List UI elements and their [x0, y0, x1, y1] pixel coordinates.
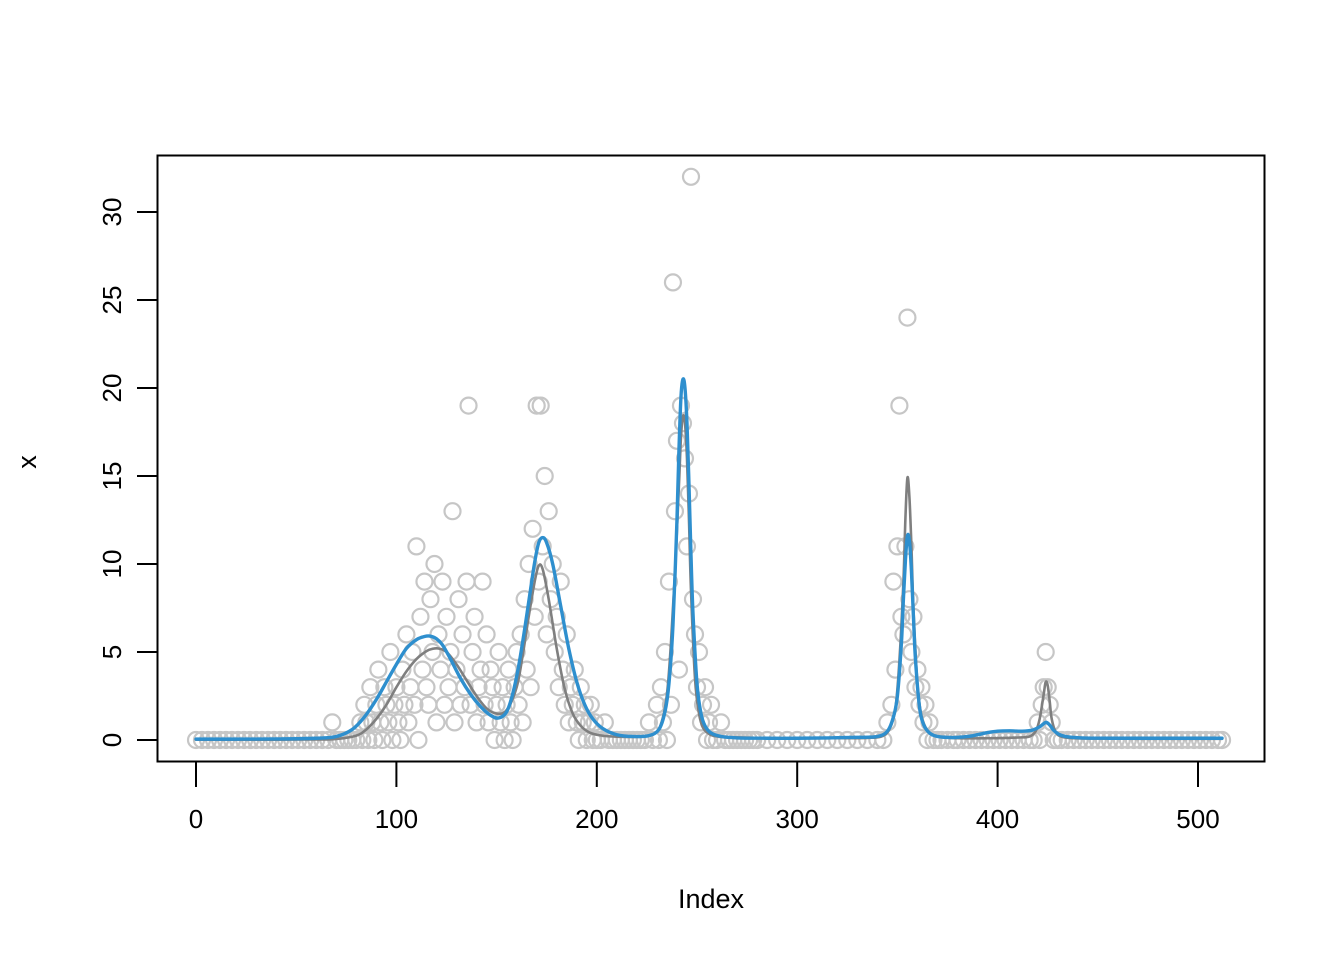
y-tick-label: 10 — [97, 550, 127, 579]
x-tick-label: 100 — [375, 804, 418, 834]
y-tick-label: 30 — [97, 198, 127, 227]
y-tick-label: 0 — [97, 733, 127, 747]
y-tick-label: 5 — [97, 645, 127, 659]
r-plot-canvas: 051015202530 0100200300400500 x Index — [0, 0, 1344, 960]
x-tick-label: 400 — [976, 804, 1019, 834]
x-axis-title: Index — [678, 884, 745, 914]
x-tick-label: 300 — [776, 804, 819, 834]
y-tick-label: 25 — [97, 286, 127, 315]
y-tick-label: 15 — [97, 462, 127, 491]
x-tick-label: 0 — [189, 804, 203, 834]
x-tick-label: 200 — [575, 804, 618, 834]
chart-svg: 051015202530 0100200300400500 x Index — [0, 0, 1344, 960]
y-tick-label: 20 — [97, 374, 127, 403]
y-axis-title: x — [12, 455, 42, 469]
x-tick-label: 500 — [1176, 804, 1219, 834]
